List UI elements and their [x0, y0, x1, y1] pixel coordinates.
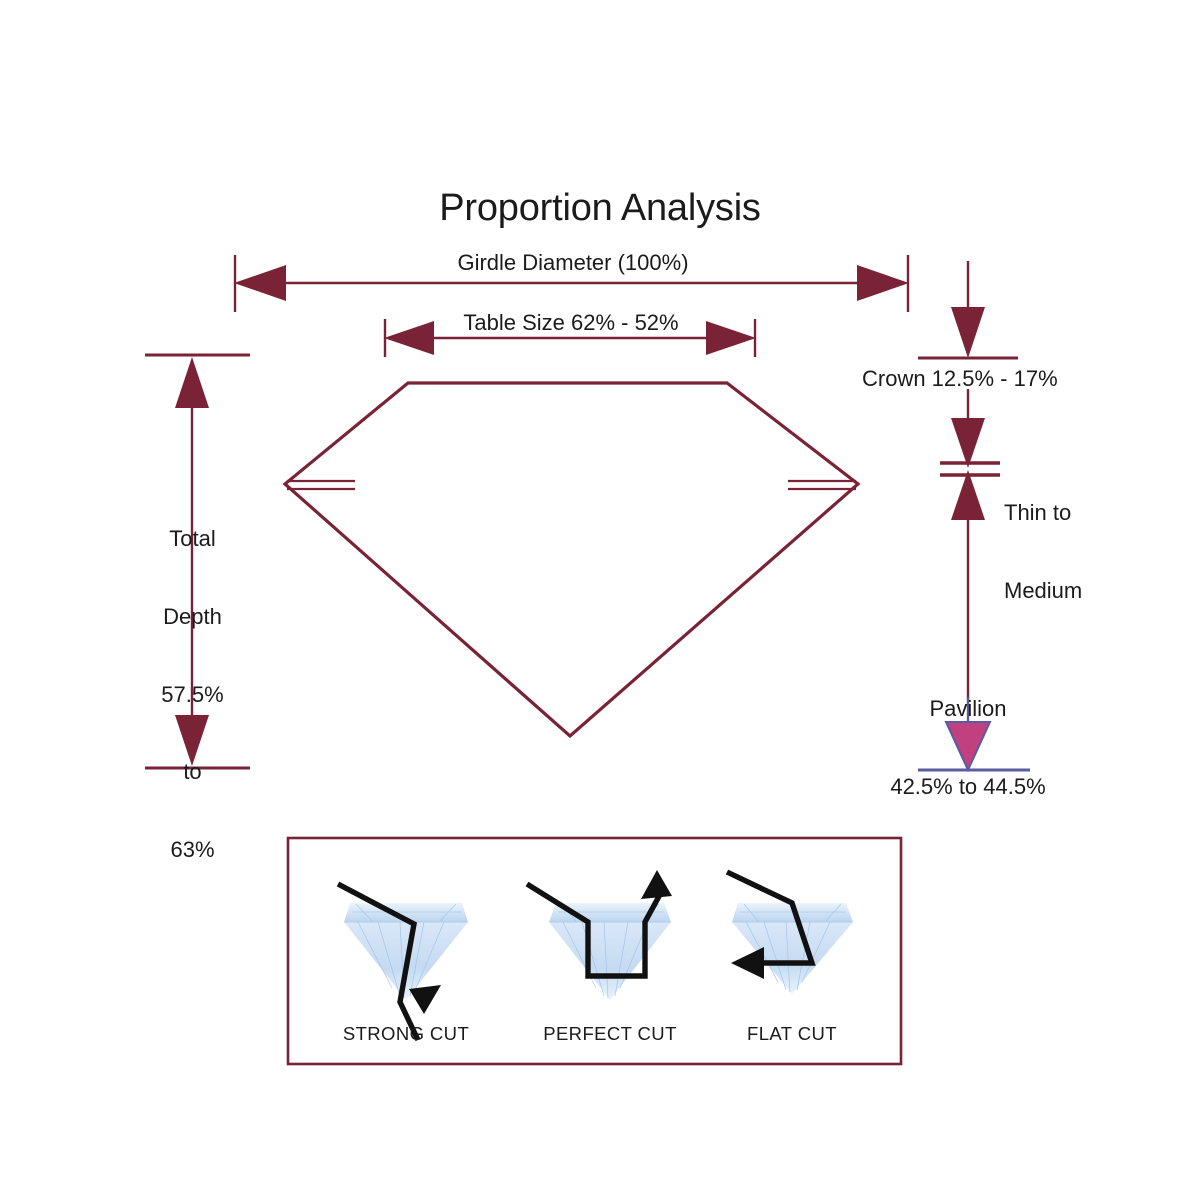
girdle-thickness-line-2: Medium — [1004, 578, 1082, 604]
proportion-analysis-diagram: Proportion Analysis Girdle Diameter (100… — [0, 0, 1200, 1200]
light-ray-strong-cut-arrowhead — [409, 985, 441, 1014]
crown-label: Crown 12.5% - 17% — [862, 366, 1058, 392]
page-title: Proportion Analysis — [0, 186, 1200, 231]
total-depth-line-2: Depth — [130, 604, 255, 630]
total-depth-line-5: 63% — [130, 837, 255, 863]
gem-illustration-perfect-cut — [527, 870, 672, 1000]
pavilion-line-1: Pavilion — [868, 696, 1068, 722]
girdle-thickness-label: Thin to Medium — [1004, 448, 1082, 656]
girdle-diameter-label: Girdle Diameter (100%) — [435, 250, 711, 276]
crown-down-arrowhead — [951, 307, 985, 358]
table-size-label: Table Size 62% - 52% — [450, 310, 692, 336]
total-depth-line-1: Total — [130, 526, 255, 552]
table-left-arrowhead — [384, 321, 434, 355]
girdle-thickness-down-arrowhead — [951, 418, 985, 468]
pavilion-line-2: 42.5% to 44.5% — [868, 774, 1068, 800]
girdle-right-arrowhead — [857, 265, 909, 301]
table-right-arrowhead — [706, 321, 756, 355]
cut-label-strong: STRONG CUT — [316, 1023, 496, 1045]
total-depth-label: Total Depth 57.5% to 63% — [130, 474, 255, 915]
total-depth-up-arrowhead — [175, 357, 209, 408]
cut-label-flat: FLAT CUT — [702, 1023, 882, 1045]
gem-illustration-flat-cut — [727, 872, 853, 994]
crown-dimension — [918, 261, 1018, 358]
girdle-left-arrowhead — [234, 265, 286, 301]
diamond-outline — [285, 383, 858, 736]
girdle-corner-marks — [287, 481, 856, 489]
total-depth-line-3: 57.5% — [130, 682, 255, 708]
gem-illustration-strong-cut — [338, 884, 468, 1040]
light-ray-perfect-cut-arrowhead — [641, 870, 672, 899]
light-ray-flat-cut-arrowhead — [731, 947, 764, 979]
total-depth-line-4: to — [130, 759, 255, 785]
girdle-thickness-line-1: Thin to — [1004, 500, 1082, 526]
cut-label-perfect: PERFECT CUT — [520, 1023, 700, 1045]
pavilion-label: Pavilion 42.5% to 44.5% — [868, 644, 1068, 852]
